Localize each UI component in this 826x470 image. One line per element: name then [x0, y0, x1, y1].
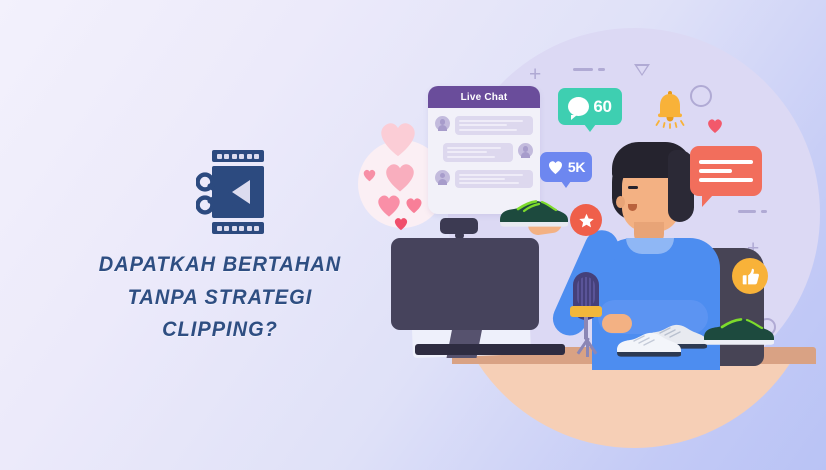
bell-icon[interactable]: [655, 90, 685, 130]
headline-line-2: TANPA STRATEGI CLIPPING?: [71, 281, 369, 346]
heart-icon: [547, 159, 564, 175]
avatar: [518, 143, 533, 158]
comments-badge[interactable]: 60: [558, 88, 622, 125]
chat-message-row: [435, 170, 533, 189]
likes-badge[interactable]: 5K: [540, 152, 592, 182]
heart-icon-5: [404, 196, 424, 214]
chat-bubble: [455, 170, 533, 189]
comments-count: 60: [593, 97, 611, 117]
live-chat-panel[interactable]: Live Chat: [428, 86, 540, 214]
sneaker-green-icon: [700, 316, 778, 348]
chat-bubble: [443, 143, 513, 162]
film-scissors-icon: [196, 148, 264, 236]
poster-canvas: + + DAPATKAH BERTAHAN TANPA STRATEGI CLI…: [0, 0, 826, 470]
dash-decoration-icon-3: [738, 210, 756, 213]
thumbs-up-icon: [741, 267, 760, 286]
person-ear: [616, 196, 625, 208]
triangle-outline-decoration-icon: [634, 64, 650, 76]
sneaker-white-icon-1: [614, 330, 684, 360]
heart-icon-floating: [706, 117, 724, 134]
avatar: [435, 116, 450, 131]
sneaker-held-icon: [496, 198, 572, 228]
live-chat-messages: [428, 108, 540, 188]
person-eyebrow: [628, 186, 638, 189]
heart-icon-3: [362, 168, 377, 182]
chat-bubble: [455, 116, 533, 135]
scissors-icon: [196, 172, 242, 218]
chat-bubble-icon: [568, 97, 589, 116]
heart-icon-2: [382, 160, 418, 193]
chat-message-row: [435, 143, 533, 162]
monitor-icon: [391, 238, 539, 330]
chat-message-row: [435, 116, 533, 135]
message-badge[interactable]: [690, 146, 762, 196]
film-sprocket-strip-bottom: [212, 222, 264, 234]
dash-decoration-icon: [573, 68, 593, 71]
microphone-band: [570, 306, 602, 317]
film-sprocket-strip-top: [212, 150, 264, 162]
page-title: DAPATKAH BERTAHAN TANPA STRATEGI CLIPPIN…: [71, 248, 369, 346]
heart-icon-1: [376, 118, 420, 158]
thumbs-up-badge[interactable]: [732, 258, 768, 294]
heart-icon-4: [375, 192, 403, 218]
microphone-stem: [584, 317, 588, 339]
avatar: [435, 170, 450, 185]
microphone-grill: [577, 277, 595, 307]
plus-decoration-icon: +: [529, 64, 541, 85]
circle-outline-decoration-icon: [690, 85, 712, 107]
webcam-icon: [440, 218, 478, 234]
dash-decoration-icon-4: [761, 210, 767, 213]
star-badge[interactable]: [570, 204, 602, 236]
monitor-base: [415, 344, 565, 355]
likes-count: 5K: [568, 159, 585, 175]
live-chat-header: Live Chat: [428, 86, 540, 108]
message-lines-icon: [699, 160, 753, 164]
star-icon: [578, 212, 595, 229]
live-chat-title: Live Chat: [461, 92, 508, 103]
headline-line-1: DAPATKAH BERTAHAN: [99, 252, 342, 276]
heart-icon-6: [393, 216, 409, 231]
dash-decoration-icon-2: [598, 68, 605, 71]
